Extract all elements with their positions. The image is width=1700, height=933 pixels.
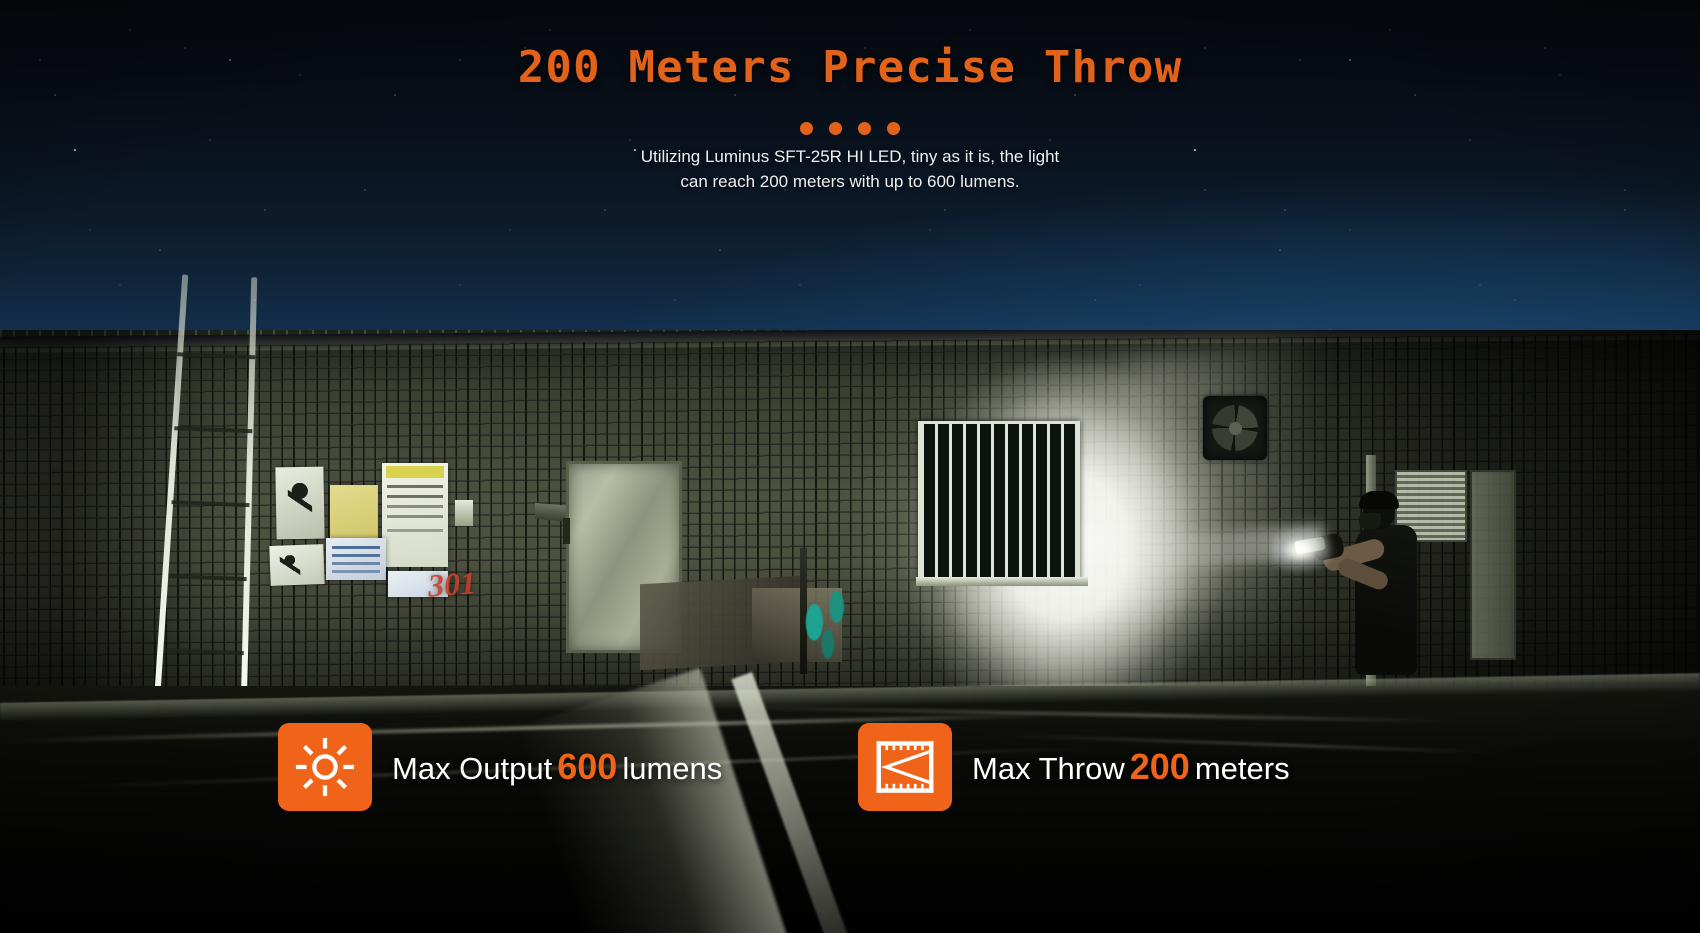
- spec-value: 200: [1125, 746, 1195, 787]
- ladder-rung: [171, 500, 249, 507]
- subtitle-line-1: Utilizing Luminus SFT-25R HI LED, tiny a…: [0, 145, 1700, 170]
- ladder-rung: [169, 574, 247, 581]
- product-hero-banner: 301 200 Meters Precise Throw: [0, 0, 1700, 933]
- wall-poster: [275, 467, 324, 540]
- green-plant: [802, 565, 858, 675]
- divider-dot: [829, 122, 842, 135]
- spec-label-before: Max Output: [392, 751, 552, 786]
- wall-notice-board: [382, 463, 448, 567]
- barred-window: [918, 421, 1080, 581]
- wall-poster: [326, 538, 386, 580]
- wall-graffiti: 301: [427, 564, 477, 604]
- dot-divider: [0, 122, 1700, 135]
- spec-max-throw: Max Throw200meters: [858, 723, 1290, 811]
- spec-max-output: Max Output600lumens: [278, 723, 722, 811]
- subtitle: Utilizing Luminus SFT-25R HI LED, tiny a…: [0, 145, 1700, 194]
- spec-label-after: meters: [1195, 751, 1290, 786]
- spec-label-before: Max Throw: [972, 751, 1125, 786]
- ladder-rung: [177, 352, 255, 359]
- spec-label-after: lumens: [622, 751, 722, 786]
- aluminium-ladder: [152, 274, 286, 708]
- page-title: 200 Meters Precise Throw: [0, 42, 1700, 93]
- divider-dot: [858, 122, 871, 135]
- side-door: [1470, 470, 1516, 660]
- wall-switch-box: [455, 500, 473, 526]
- wall-poster: [269, 544, 324, 586]
- throw-beam-icon: [858, 723, 952, 811]
- person-with-flashlight: [1315, 495, 1465, 680]
- spec-max-output-text: Max Output600lumens: [392, 746, 722, 788]
- wall-exhaust-fan: [1203, 396, 1267, 460]
- subtitle-line-2: can reach 200 meters with up to 600 lume…: [0, 170, 1700, 195]
- ladder-rung: [166, 648, 244, 655]
- spec-max-throw-text: Max Throw200meters: [972, 746, 1290, 788]
- person-mask: [1359, 513, 1381, 529]
- divider-dot: [800, 122, 813, 135]
- foreground-road: [0, 686, 1700, 933]
- flashlight-glow: [1271, 525, 1343, 575]
- ladder-rung: [174, 426, 252, 433]
- wall-poster: [330, 485, 378, 543]
- person-cap: [1359, 491, 1399, 509]
- window-sill: [916, 577, 1088, 586]
- window-bars: [921, 424, 1077, 578]
- sun-icon: [278, 723, 372, 811]
- spec-value: 600: [552, 746, 622, 787]
- ladder-rail-right: [241, 277, 258, 707]
- divider-dot: [887, 122, 900, 135]
